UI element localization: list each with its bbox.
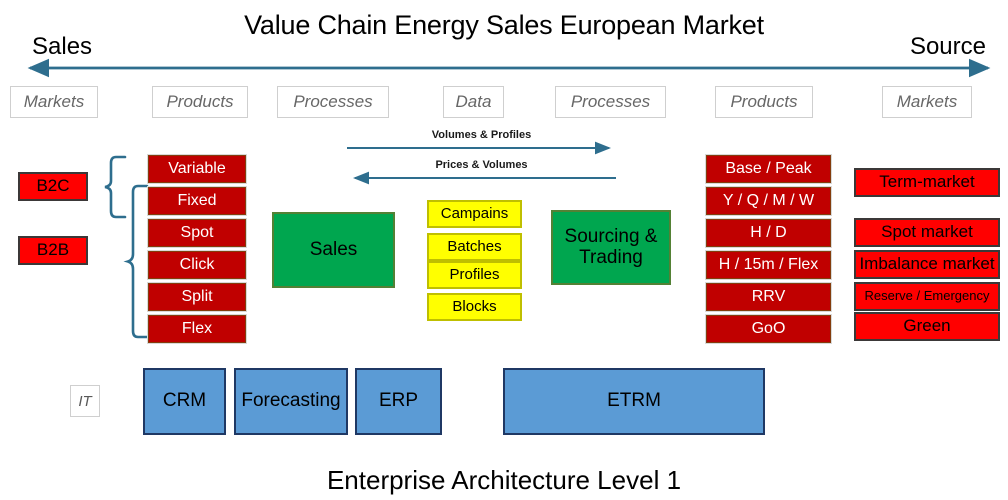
it-system-crm[interactable]: CRM	[143, 368, 226, 435]
source-market-spot-market[interactable]: Spot market	[854, 218, 1000, 247]
process-box-sales[interactable]: Sales	[272, 212, 395, 288]
source-product-h-15m-flex[interactable]: H / 15m / Flex	[706, 251, 831, 279]
channel-box-b2c[interactable]: B2C	[18, 172, 88, 201]
data-object-blocks[interactable]: Blocks	[427, 293, 522, 321]
source-product-y-q-m-w[interactable]: Y / Q / M / W	[706, 187, 831, 215]
source-market-imbalance-market[interactable]: Imbalance market	[854, 250, 1000, 279]
it-system-forecasting[interactable]: Forecasting	[234, 368, 348, 435]
diagram-canvas: Value Chain Energy Sales European Market…	[0, 0, 1008, 500]
source-product-h-d[interactable]: H / D	[706, 219, 831, 247]
data-object-campains[interactable]: Campains	[427, 200, 522, 228]
process-box-sourcing-trading[interactable]: Sourcing & Trading	[551, 210, 671, 285]
sales-product-click[interactable]: Click	[148, 251, 246, 279]
flow-label-prices-volumes: Prices & Volumes	[347, 159, 616, 171]
footer-title: Enterprise Architecture Level 1	[0, 465, 1008, 496]
header-box-markets-left: Markets	[10, 86, 98, 118]
source-market-green[interactable]: Green	[854, 312, 1000, 341]
data-object-profiles[interactable]: Profiles	[427, 261, 522, 289]
source-product-base-peak[interactable]: Base / Peak	[706, 155, 831, 183]
source-product-rrv[interactable]: RRV	[706, 283, 831, 311]
header-box-data: Data	[443, 86, 504, 118]
header-box-markets-right: Markets	[882, 86, 972, 118]
sales-product-split[interactable]: Split	[148, 283, 246, 311]
flow-label-volumes-profiles: Volumes & Profiles	[347, 129, 616, 141]
sales-product-spot[interactable]: Spot	[148, 219, 246, 247]
header-box-processes-right: Processes	[555, 86, 666, 118]
sales-product-variable[interactable]: Variable	[148, 155, 246, 183]
header-box-products-left: Products	[152, 86, 248, 118]
it-system-erp[interactable]: ERP	[355, 368, 442, 435]
b2b-brace	[126, 184, 150, 339]
axis-label-source: Source	[910, 33, 986, 61]
flow-arrow-prices-volumes	[347, 173, 622, 183]
axis-label-sales: Sales	[32, 33, 92, 61]
page-title: Value Chain Energy Sales European Market	[0, 10, 1008, 41]
source-market-reserve-emergency[interactable]: Reserve / Emergency	[854, 282, 1000, 311]
source-product-goo[interactable]: GoO	[706, 315, 831, 343]
it-layer-tag: IT	[70, 385, 100, 417]
data-object-batches[interactable]: Batches	[427, 233, 522, 261]
sales-product-flex[interactable]: Flex	[148, 315, 246, 343]
header-box-processes-left: Processes	[277, 86, 389, 118]
channel-box-b2b[interactable]: B2B	[18, 236, 88, 265]
it-system-etrm[interactable]: ETRM	[503, 368, 765, 435]
value-chain-axis-arrow	[18, 58, 1000, 80]
source-market-term-market[interactable]: Term-market	[854, 168, 1000, 197]
sales-product-fixed[interactable]: Fixed	[148, 187, 246, 215]
header-box-products-right: Products	[715, 86, 813, 118]
flow-arrow-volumes-profiles	[347, 143, 622, 153]
